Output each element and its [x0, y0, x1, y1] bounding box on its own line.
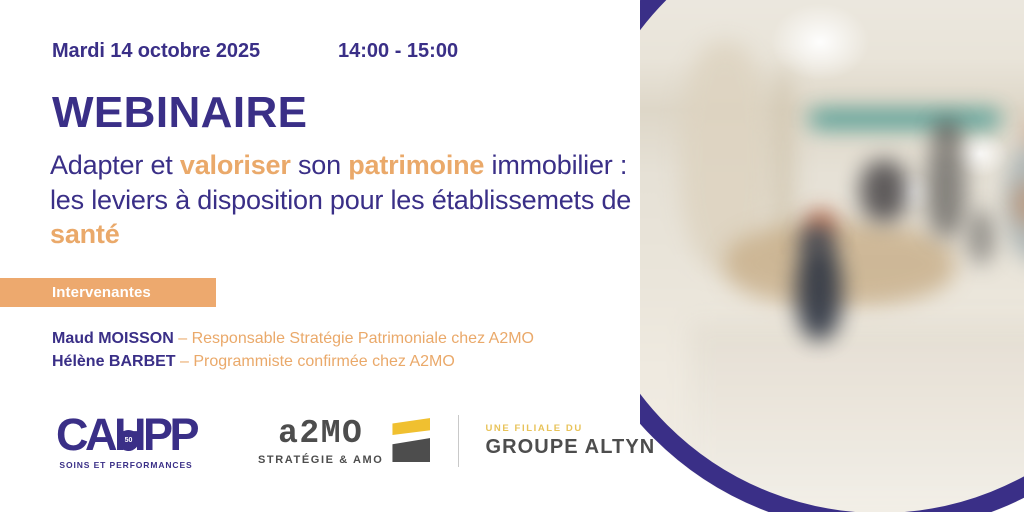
- event-meta-row: Mardi 14 octobre 2025 14:00 - 15:00: [52, 40, 458, 63]
- photo-person-walking-1: [926, 140, 966, 238]
- arc-mask: [980, 0, 1024, 512]
- cahpp-logo: CAHPP 50 SOINS ET PERFORMANCES: [50, 412, 202, 470]
- speakers-list: Maud MOISSON – Responsable Stratégie Pat…: [52, 328, 534, 373]
- speaker-name: Hélène BARBET: [52, 353, 176, 370]
- a2mo-logo: a2MO STRATÉGIE & AMO: [258, 417, 430, 466]
- speakers-section-tag: Intervenantes: [0, 278, 216, 307]
- photo-person-crouching: [796, 244, 842, 340]
- a2mo-wordmark: a2MO: [258, 417, 383, 450]
- a2mo-mark-bottom-shape: [392, 438, 430, 462]
- logo-row: CAHPP 50 SOINS ET PERFORMANCES a2MO STRA…: [50, 412, 655, 470]
- cahpp-anniversary-emblem: 50: [118, 430, 139, 451]
- photo-person-head-1: [934, 120, 960, 148]
- hospital-photo-zone: [640, 0, 1024, 512]
- cahpp-wordmark: CAHPP 50: [56, 412, 196, 457]
- speaker-role: – Responsable Stratégie Patrimoniale che…: [178, 330, 534, 347]
- altyn-kicker: UNE FILIALE DU: [485, 423, 655, 434]
- altyn-name: GROUPE ALTYN: [485, 436, 655, 459]
- speaker-name: Maud MOISSON: [52, 330, 174, 347]
- banner-content: Mardi 14 octobre 2025 14:00 - 15:00 WEBI…: [0, 0, 680, 512]
- cahpp-tagline: SOINS ET PERFORMANCES: [50, 460, 202, 470]
- event-subtitle: Adapter et valoriser son patrimoine immo…: [50, 148, 650, 252]
- logo-divider: [458, 415, 459, 467]
- event-date: Mardi 14 octobre 2025: [52, 40, 260, 63]
- a2mo-mark-icon: [392, 416, 430, 462]
- photo-person-seated: [860, 160, 908, 222]
- photo-floor: [690, 322, 1024, 512]
- list-item: Hélène BARBET – Programmiste confirmée c…: [52, 351, 534, 374]
- a2mo-tagline: STRATÉGIE & AMO: [258, 454, 383, 466]
- event-time: 14:00 - 15:00: [338, 40, 458, 63]
- speakers-section-label: Intervenantes: [52, 284, 151, 301]
- photo-teal-sign: [810, 110, 1000, 128]
- subtitle-highlight-patrimoine: patrimoine: [348, 150, 484, 180]
- subtitle-part-1: Adapter et: [50, 150, 180, 180]
- list-item: Maud MOISSON – Responsable Stratégie Pat…: [52, 328, 534, 351]
- subtitle-highlight-valoriser: valoriser: [180, 150, 291, 180]
- a2mo-mark-top-shape: [392, 418, 430, 435]
- subtitle-highlight-sante: santé: [50, 219, 120, 249]
- subtitle-part-2: son: [291, 150, 349, 180]
- webinar-banner: Mardi 14 octobre 2025 14:00 - 15:00 WEBI…: [0, 0, 1024, 512]
- hospital-corridor-photo: [640, 0, 1024, 512]
- page-title: WEBINAIRE: [52, 91, 307, 135]
- a2mo-text-block: a2MO STRATÉGIE & AMO: [258, 417, 383, 466]
- groupe-altyn-logo: UNE FILIALE DU GROUPE ALTYN: [485, 423, 655, 459]
- speaker-role: – Programmiste confirmée chez A2MO: [180, 353, 455, 370]
